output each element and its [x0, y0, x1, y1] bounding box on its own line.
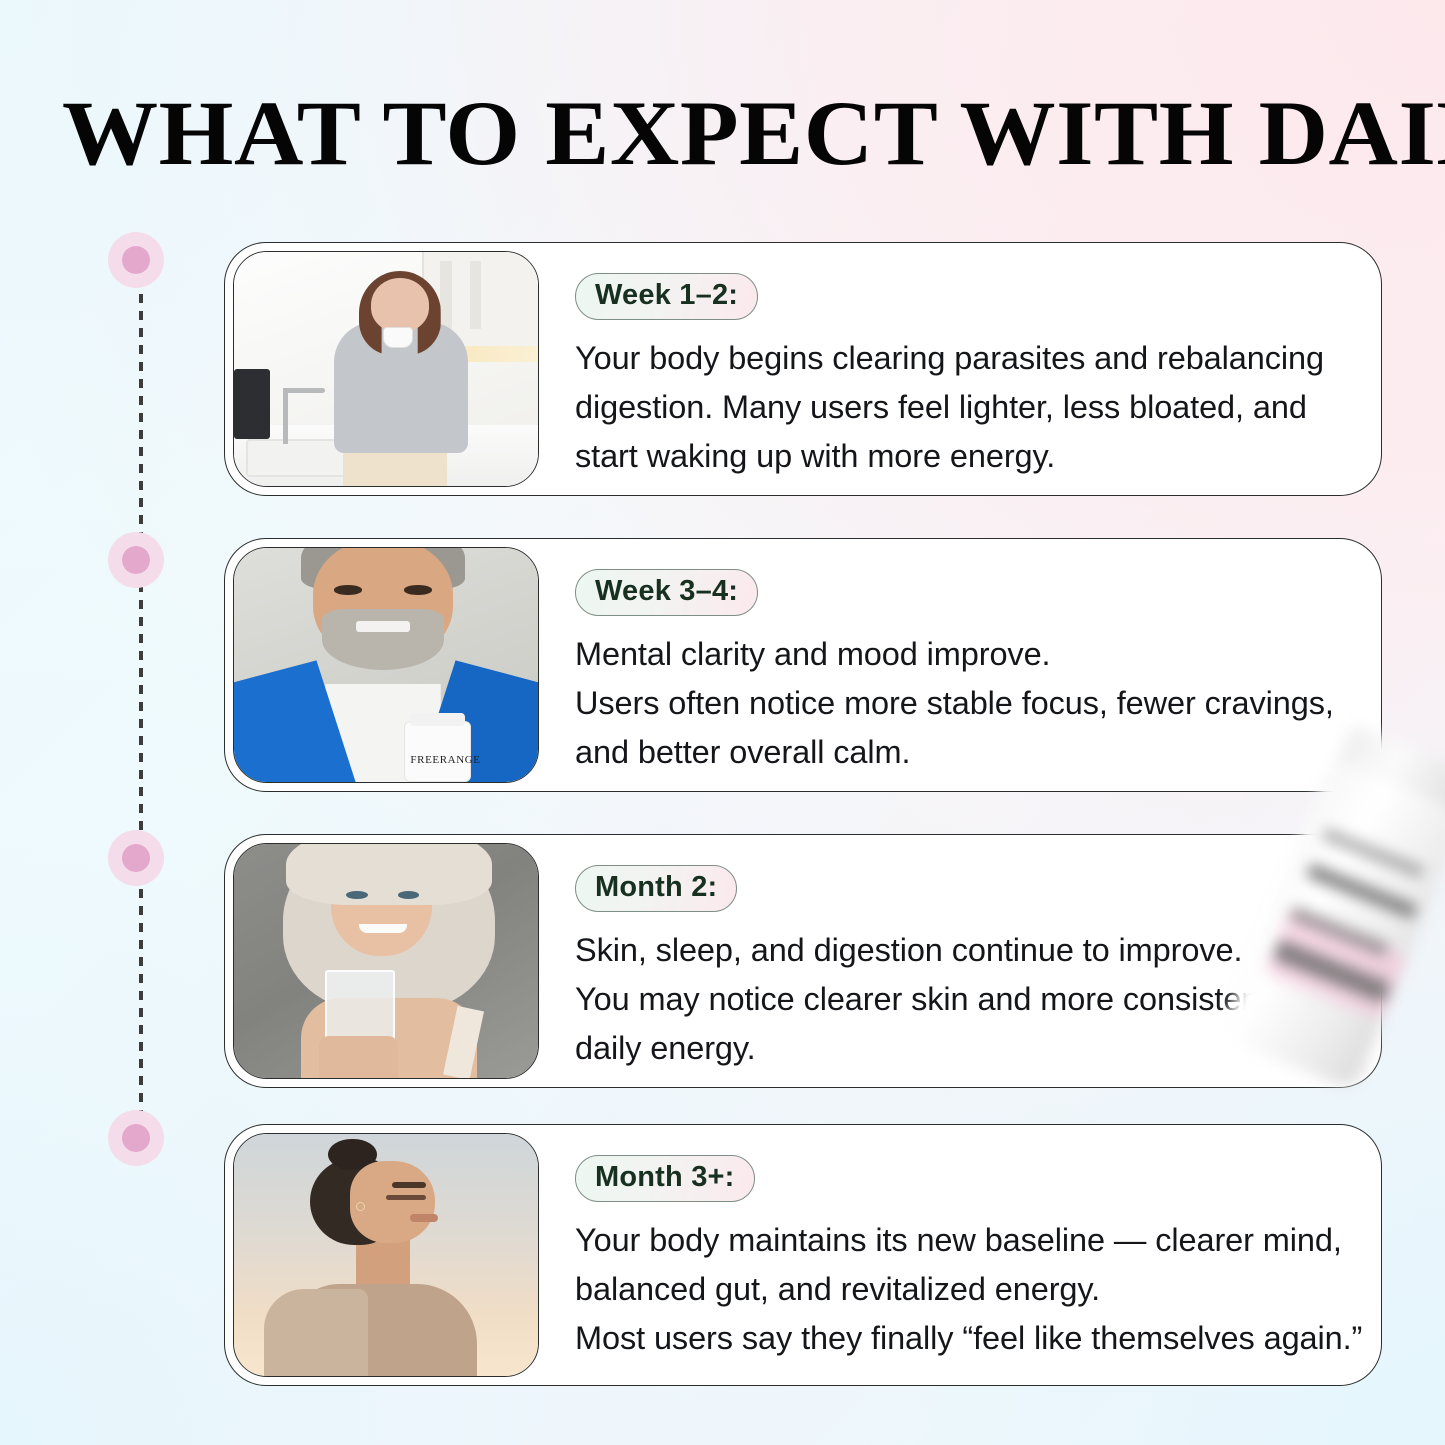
card-text-line: Skin, sleep, and digestion continue to i…	[575, 926, 1347, 975]
card-text-1: Your body begins clearing parasites and …	[575, 334, 1347, 481]
card-image-2: FREERANGE	[233, 547, 539, 783]
bottle-brand-label: FREERANGE	[410, 754, 464, 766]
timeline-card[interactable]: Week 1–2: Your body begins clearing para…	[224, 242, 1382, 496]
status-badge: Month 2:	[575, 865, 737, 912]
card-text-line: balanced gut, and revitalized energy.	[575, 1265, 1362, 1314]
card-text-line: and better overall calm.	[575, 728, 1347, 777]
card-body-3: Month 2: Skin, sleep, and digestion cont…	[539, 835, 1381, 1087]
card-text-line: Most users say they finally “feel like t…	[575, 1314, 1362, 1363]
timeline-dot-1	[108, 232, 164, 288]
timeline-rail	[108, 232, 174, 1172]
timeline-dot-2	[108, 532, 164, 588]
card-text-line: You may notice clearer skin and more con…	[575, 975, 1347, 1024]
photo-woman-kitchen-mug	[234, 252, 538, 486]
card-text-line: start waking up with more energy.	[575, 432, 1347, 481]
card-body-2: Week 3–4: Mental clarity and mood improv…	[539, 539, 1381, 791]
status-badge: Week 3–4:	[575, 569, 758, 616]
page-title: WHAT TO EXPECT WITH DAILY USE	[62, 92, 1445, 174]
card-text-line: Mental clarity and mood improve.	[575, 630, 1347, 679]
card-body-1: Week 1–2: Your body begins clearing para…	[539, 243, 1381, 495]
photo-woman-glass-of-water	[234, 844, 538, 1078]
timeline-card[interactable]: Month 3+: Your body maintains its new ba…	[224, 1124, 1382, 1386]
card-text-3: Skin, sleep, and digestion continue to i…	[575, 926, 1347, 1073]
card-text-4: Your body maintains its new baseline — c…	[575, 1216, 1362, 1363]
card-text-line: digestion. Many users feel lighter, less…	[575, 383, 1347, 432]
card-text-line: Users often notice more stable focus, fe…	[575, 679, 1347, 728]
card-image-4	[233, 1133, 539, 1377]
infographic-page: WHAT TO EXPECT WITH DAILY USE Week 1–2: …	[0, 0, 1445, 1445]
card-image-1	[233, 251, 539, 487]
status-badge: Week 1–2:	[575, 273, 758, 320]
photo-woman-breathing-sunset	[234, 1134, 538, 1376]
card-image-3	[233, 843, 539, 1079]
timeline-card[interactable]: FREERANGE Week 3–4: Mental clarity and m…	[224, 538, 1382, 792]
status-badge: Month 3+:	[575, 1155, 755, 1202]
card-body-4: Month 3+: Your body maintains its new ba…	[539, 1125, 1382, 1385]
timeline-dashed-line	[139, 260, 143, 1160]
card-text-line: Your body begins clearing parasites and …	[575, 334, 1347, 383]
card-text-2: Mental clarity and mood improve. Users o…	[575, 630, 1347, 777]
timeline-dot-4	[108, 1110, 164, 1166]
photo-man-blue-blazer-bottle: FREERANGE	[234, 548, 538, 782]
timeline-dot-3	[108, 830, 164, 886]
timeline-card[interactable]: Month 2: Skin, sleep, and digestion cont…	[224, 834, 1382, 1088]
card-text-line: Your body maintains its new baseline — c…	[575, 1216, 1362, 1265]
card-text-line: daily energy.	[575, 1024, 1347, 1073]
